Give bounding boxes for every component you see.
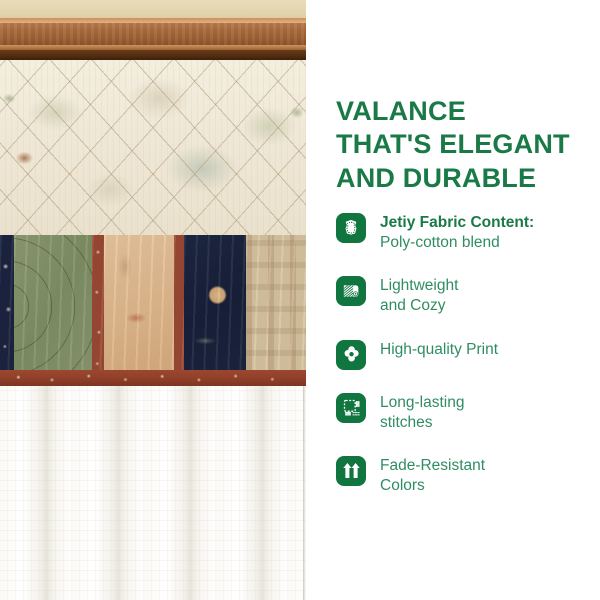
headline-line-2: THAT'S ELEGANT xyxy=(336,128,570,161)
patchwork-strip xyxy=(0,235,306,378)
feature-item-fabric-content: Jetiy Fabric Content: Poly-cotton blend xyxy=(336,212,590,253)
info-panel: VALANCE THAT'S ELEGANT AND DURABLE Jetiy… xyxy=(306,0,600,600)
patch-block-plaid xyxy=(246,235,306,378)
feature-item-fade-resistance: Fade-Resistant Colors xyxy=(336,455,590,496)
fabric-swatch-icon xyxy=(336,213,366,243)
rod-body xyxy=(0,23,306,45)
binding-strip xyxy=(0,370,306,386)
headline-line-3: AND DURABLE xyxy=(336,162,570,195)
patch-block-peach xyxy=(104,235,174,378)
feature-body: High-quality Print xyxy=(380,341,498,358)
feature-body: Long-lasting stitches xyxy=(380,394,464,431)
patch-block-sage xyxy=(14,235,92,378)
flower-icon xyxy=(336,340,366,370)
feature-list: Jetiy Fabric Content: Poly-cotton blend xyxy=(336,212,590,496)
product-photo xyxy=(0,0,306,600)
feature-item-stitching: Long-lasting stitches xyxy=(336,392,590,433)
quilted-valance-panel xyxy=(0,60,306,235)
feature-text: Lightweight and Cozy xyxy=(380,275,458,316)
page-title: VALANCE THAT'S ELEGANT AND DURABLE xyxy=(336,95,570,195)
feature-text: High-quality Print xyxy=(380,339,498,360)
feature-title-colon: : xyxy=(529,214,534,231)
feature-body: Poly-cotton blend xyxy=(380,234,500,251)
stitched-patch-icon xyxy=(336,393,366,423)
sheer-curtain xyxy=(0,386,306,600)
patch-block-red-band-2 xyxy=(174,235,184,378)
feature-body: Lightweight and Cozy xyxy=(380,277,458,314)
fabric-roll-icon xyxy=(336,276,366,306)
curtain-rod xyxy=(0,18,306,60)
rod-shadow-edge xyxy=(0,50,306,60)
double-up-arrow-icon xyxy=(336,456,366,486)
patch-block-navy-flower xyxy=(184,235,246,378)
feature-item-lightweight: Lightweight and Cozy xyxy=(336,275,590,316)
feature-body: Fade-Resistant Colors xyxy=(380,457,485,494)
patch-block-red-band xyxy=(92,235,104,378)
feature-item-print-quality: High-quality Print xyxy=(336,339,590,370)
feature-text: Jetiy Fabric Content: Poly-cotton blend xyxy=(380,212,534,253)
patch-block-navy-floral xyxy=(0,235,14,378)
feature-text: Long-lasting stitches xyxy=(380,392,464,433)
headline-line-1: VALANCE xyxy=(336,95,570,128)
feature-text: Fade-Resistant Colors xyxy=(380,455,485,496)
product-feature-card: VALANCE THAT'S ELEGANT AND DURABLE Jetiy… xyxy=(0,0,600,600)
feature-title: Jetiy Fabric Content xyxy=(380,214,529,231)
